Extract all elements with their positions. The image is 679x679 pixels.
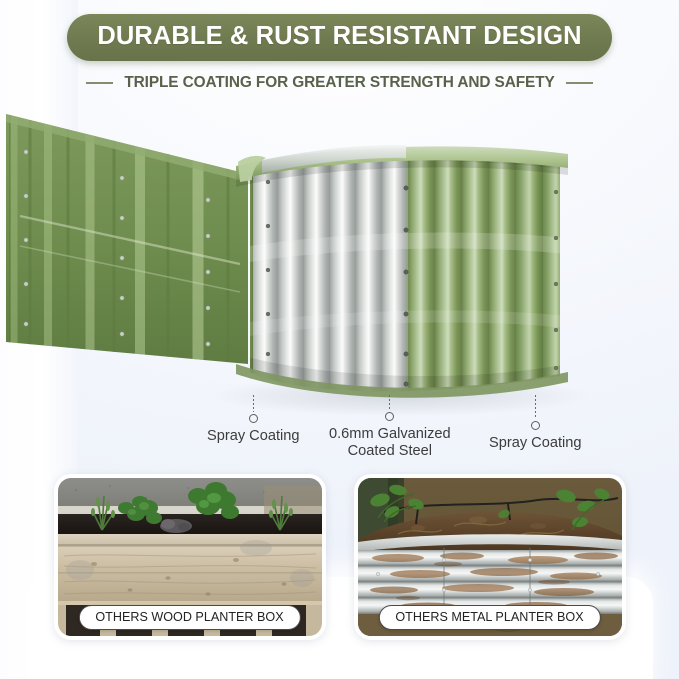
page-title: DURABLE & RUST RESISTANT DESIGN bbox=[97, 23, 581, 50]
wood-planter-photo: OTHERS WOOD PLANTER BOX bbox=[58, 478, 322, 636]
infographic-stage: DURABLE & RUST RESISTANT DESIGN TRIPLE C… bbox=[0, 0, 679, 679]
callout-leader-line bbox=[253, 395, 254, 412]
comparison-panel-wood: OTHERS WOOD PLANTER BOX bbox=[54, 474, 326, 640]
callout-label: Spray Coating bbox=[489, 435, 581, 452]
callout-label: Spray Coating bbox=[207, 428, 299, 445]
product-illustration bbox=[0, 96, 679, 416]
panel-caption-wood: OTHERS WOOD PLANTER BOX bbox=[78, 605, 300, 630]
comparison-panel-metal: OTHERS METAL PLANTER BOX bbox=[354, 474, 626, 640]
callouts: Spray Coating 0.6mm Galvanized Coated St… bbox=[0, 395, 679, 465]
subtitle-row: TRIPLE COATING FOR GREATER STRENGTH AND … bbox=[0, 74, 679, 92]
callout-spray-coating-left: Spray Coating bbox=[207, 395, 299, 445]
header: DURABLE & RUST RESISTANT DESIGN TRIPLE C… bbox=[0, 14, 679, 92]
subtitle-dash-left bbox=[86, 82, 113, 84]
callout-label: 0.6mm Galvanized Coated Steel bbox=[329, 426, 451, 459]
callout-spray-coating-right: Spray Coating bbox=[489, 395, 581, 452]
main-body bbox=[236, 136, 569, 416]
raised-bed-svg bbox=[0, 96, 679, 416]
callout-leader-line bbox=[535, 395, 536, 419]
callout-marker-dot bbox=[385, 412, 394, 421]
left-wing-panel bbox=[6, 114, 248, 364]
comparison-panels: OTHERS WOOD PLANTER BOX bbox=[0, 474, 679, 650]
callout-marker-dot bbox=[531, 421, 540, 430]
panel-caption-metal: OTHERS METAL PLANTER BOX bbox=[378, 605, 600, 630]
title-pill: DURABLE & RUST RESISTANT DESIGN bbox=[67, 14, 611, 61]
callout-leader-line bbox=[389, 395, 390, 410]
subtitle-dash-right bbox=[566, 82, 593, 84]
page-subtitle: TRIPLE COATING FOR GREATER STRENGTH AND … bbox=[124, 74, 554, 92]
metal-planter-photo: OTHERS METAL PLANTER BOX bbox=[358, 478, 622, 636]
callout-galvanized-steel: 0.6mm Galvanized Coated Steel bbox=[329, 395, 451, 459]
callout-marker-dot bbox=[249, 414, 258, 423]
